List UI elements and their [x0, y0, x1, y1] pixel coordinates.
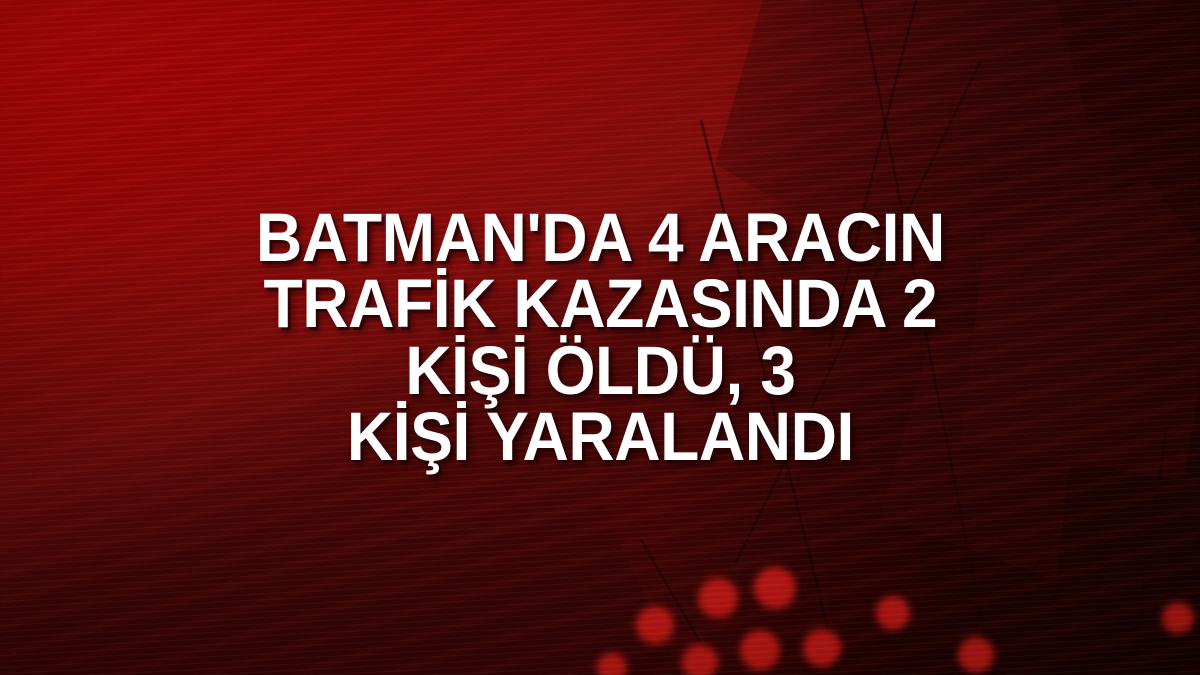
- headline-container: BATMAN'DA 4 ARACIN TRAFİK KAZASINDA 2 Kİ…: [0, 0, 1200, 675]
- headline-text: BATMAN'DA 4 ARACIN TRAFİK KAZASINDA 2 Kİ…: [256, 205, 945, 470]
- headline-card: BATMAN'DA 4 ARACIN TRAFİK KAZASINDA 2 Kİ…: [0, 0, 1200, 675]
- headline-line-4: KİŞİ YARALANDI: [256, 404, 945, 470]
- headline-line-2: TRAFİK KAZASINDA 2: [256, 271, 945, 337]
- headline-line-3: KİŞİ ÖLDÜ, 3: [256, 338, 945, 404]
- headline-line-1: BATMAN'DA 4 ARACIN: [256, 205, 945, 271]
